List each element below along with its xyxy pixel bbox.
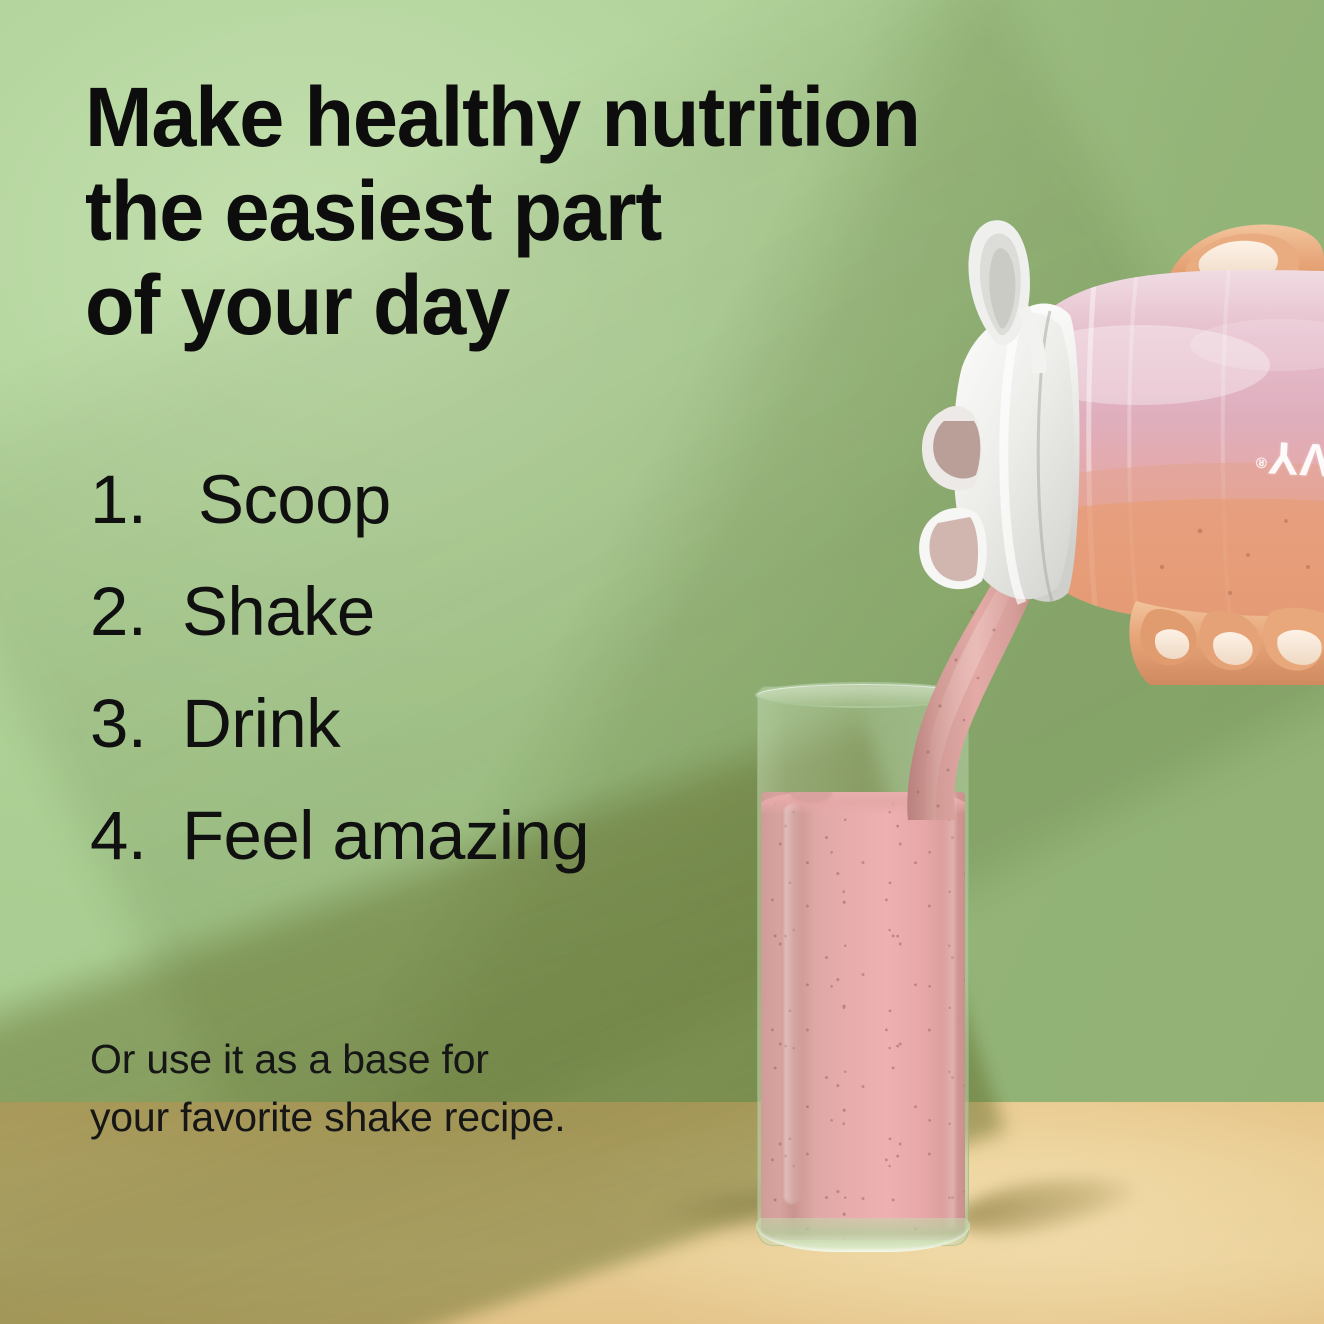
glass-highlight-right — [943, 790, 955, 1230]
shaker-bottle-and-hand — [900, 215, 1324, 685]
glass-highlight-left — [784, 804, 801, 1204]
step-label: Shake — [182, 572, 375, 651]
step-label: Scoop — [198, 460, 391, 539]
step-label: Feel amazing — [182, 796, 589, 875]
step-number: 3. — [90, 684, 182, 763]
step-number: 2. — [90, 572, 182, 651]
list-item: 1. Scoop — [90, 460, 850, 572]
step-number: 1. — [90, 460, 198, 539]
step-number: 4. — [90, 796, 182, 875]
list-item: 4. Feel amazing — [90, 796, 850, 908]
promo-image: Make healthy nutrition the easiest part … — [0, 0, 1324, 1324]
list-item: 2. Shake — [90, 572, 850, 684]
step-label: Drink — [182, 684, 340, 763]
list-item: 3. Drink — [90, 684, 850, 796]
bottle-lid — [919, 220, 1079, 603]
steps-list: 1. Scoop 2. Shake 3. Drink 4. Feel amazi… — [90, 460, 850, 908]
footnote-text: Or use it as a base for your favorite sh… — [90, 1030, 730, 1146]
hand-lower — [1129, 601, 1324, 685]
